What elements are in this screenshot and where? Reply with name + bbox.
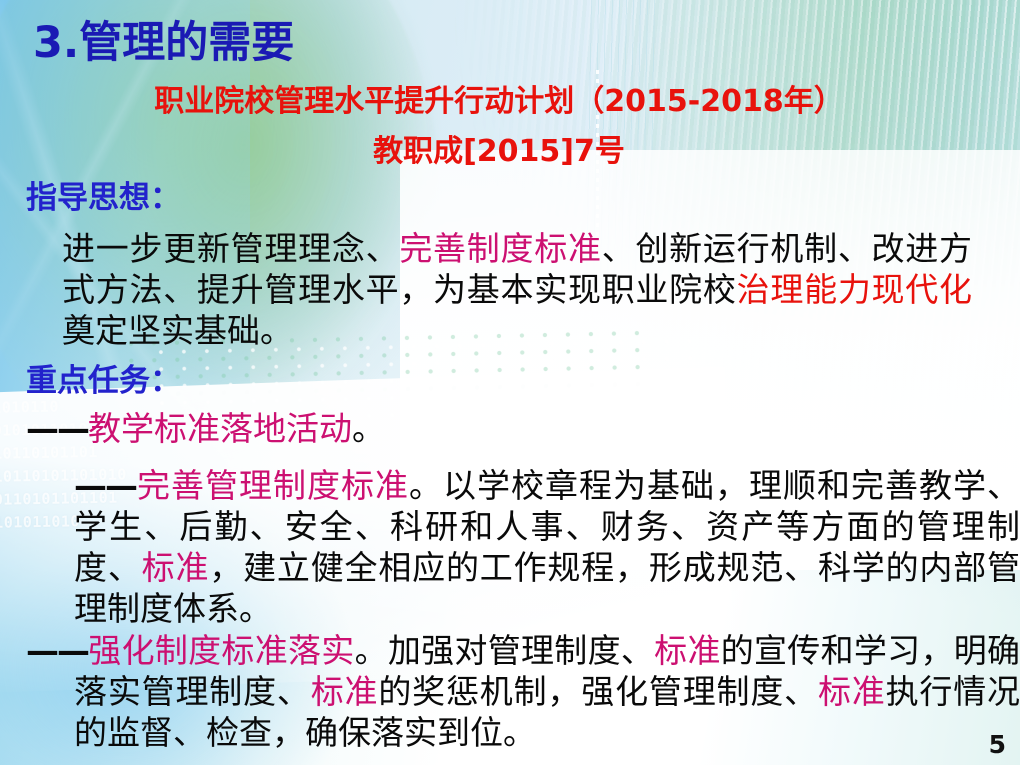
- guiding-thought-run-3: 治理能力现代化: [737, 270, 972, 309]
- task-3-run-4: 标准: [311, 672, 379, 711]
- slide-canvas: 1010110 0101011010101 10110101101 101101…: [0, 0, 1020, 765]
- page-number: 5: [989, 730, 1006, 759]
- task-3-run-0: 强化制度标准落实: [88, 631, 355, 670]
- page-title-text: 管理的需要: [79, 18, 294, 68]
- task-3-run-6: 标准: [818, 672, 886, 711]
- task-3-dash: ——: [26, 631, 88, 670]
- subtitle-line-1: 职业院校管理水平提升行动计划（2015-2018年）: [0, 76, 998, 120]
- section-label-key-tasks: 重点任务：: [26, 355, 181, 400]
- task-1-run-0: 教学标准落地活动: [88, 409, 352, 448]
- section-label-guiding-thought: 指导思想：: [26, 172, 181, 217]
- page-title-number: 3.: [33, 18, 79, 68]
- task-2-dash: ——: [74, 466, 136, 505]
- subtitle-2-prefix: 教职成: [373, 134, 463, 169]
- subtitle-1-prefix: 职业院校管理水平提升行动计划（: [154, 84, 604, 119]
- task-3-run-2: 标准: [654, 631, 721, 670]
- page-title: 3.管理的需要: [33, 8, 294, 70]
- task-1-dash: ——: [26, 409, 88, 448]
- subtitle-1-suffix: 年）: [784, 84, 844, 119]
- guiding-thought-run-0: 进一步更新管理理念、: [62, 229, 399, 268]
- task-3-run-5: 的奖惩机制，强化管理制度、: [378, 672, 818, 711]
- guiding-thought-run-4: 奠定坚实基础。: [62, 311, 293, 350]
- task-item-3: ——强化制度标准落实。加强对管理制度、标准的宣传和学习，明确落实管理制度、标准的…: [26, 630, 1020, 753]
- task-item-1: ——教学标准落地活动。: [26, 408, 1020, 449]
- subtitle-line-2: 教职成[2015]7号: [0, 126, 998, 170]
- guiding-thought-paragraph: 进一步更新管理理念、完善制度标准、创新运行机制、改进方式方法、提升管理水平，为基…: [62, 228, 972, 351]
- subtitle-2-suffix: 号: [595, 134, 625, 169]
- task-2-run-3: ，建立健全相应的工作规程，形成规范、科学的内部管理制度体系。: [74, 548, 1020, 628]
- task-item-2: ——完善管理制度标准。以学校章程为基础，理顺和完善教学、学生、后勤、安全、科研和…: [26, 465, 1020, 629]
- task-2-run-0: 完善管理制度标准: [136, 466, 409, 505]
- subtitle-1-years: 2015-2018: [604, 84, 783, 119]
- task-2-run-2: 标准: [142, 548, 210, 587]
- slide-content: 3.管理的需要 职业院校管理水平提升行动计划（2015-2018年） 教职成[2…: [0, 0, 1020, 765]
- subtitle-2-doc-number: [2015]7: [463, 134, 595, 169]
- task-1-run-1: 。: [352, 409, 385, 448]
- guiding-thought-run-1: 完善制度标准: [399, 229, 601, 268]
- task-3-run-1: 。加强对管理制度、: [355, 631, 655, 670]
